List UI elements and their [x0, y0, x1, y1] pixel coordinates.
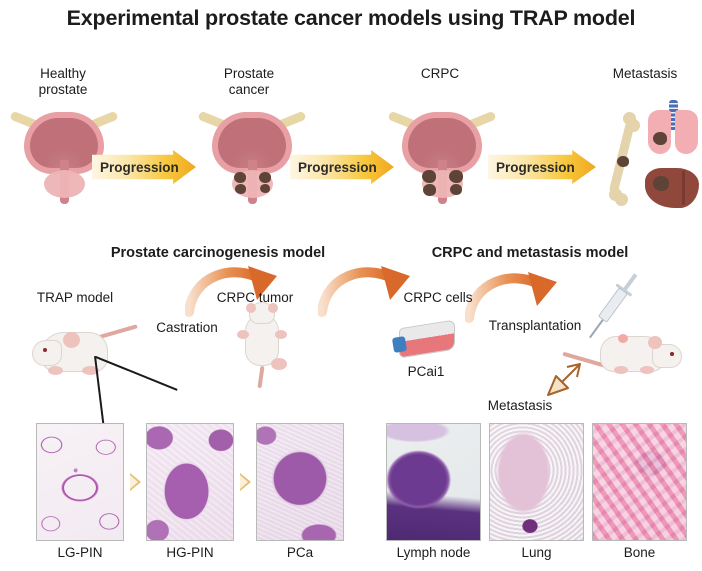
- tumor-nodule: [260, 184, 270, 193]
- histology-panel-lung: [489, 423, 584, 541]
- figure-canvas: Experimental prostate cancer models usin…: [0, 0, 702, 571]
- progression-arrow-label: Progression: [290, 160, 377, 175]
- mouse-ear: [63, 332, 80, 348]
- liver-icon: [645, 168, 699, 208]
- castration-label: Castration: [132, 320, 242, 336]
- injection-site: [618, 334, 628, 343]
- histology-caption-bone: Bone: [592, 545, 687, 560]
- tumor-nodule: [422, 170, 436, 183]
- histology-caption-pca: PCa: [256, 545, 344, 560]
- mouse-head: [32, 340, 62, 366]
- crpc-cells-label: CRPC cells: [388, 290, 488, 306]
- flask-body: [399, 320, 455, 359]
- stage-label-prostate-cancer: Prostate cancer: [194, 66, 304, 98]
- mouse-foot: [640, 366, 654, 374]
- stage-label-healthy-prostate: Healthy prostate: [8, 66, 118, 98]
- metastasis-arrow-icon: [543, 360, 585, 400]
- mouse-eye: [670, 352, 674, 356]
- pcai1-label: PCai1: [386, 364, 466, 380]
- organ-crpc: [396, 104, 488, 208]
- stage-label-crpc: CRPC: [385, 66, 495, 82]
- left-model-heading: Prostate carcinogenesis model: [78, 245, 358, 262]
- trap-model-label: TRAP model: [20, 290, 130, 306]
- mouse-foot: [48, 366, 63, 375]
- stage-label-line1: Metastasis: [590, 66, 700, 82]
- stage-label-line1: Healthy: [8, 66, 118, 82]
- mouse-foot: [237, 330, 249, 339]
- histology-panel-hg-pin: [146, 423, 234, 541]
- tumor-nodule: [259, 172, 271, 183]
- mouse-transplantation: [600, 330, 700, 384]
- progression-arrow-label: Progression: [488, 160, 575, 175]
- metastasis-outcome-label: Metastasis: [455, 398, 585, 414]
- histology-caption-lung: Lung: [489, 545, 584, 560]
- histology-panel-lymph-node: [386, 423, 481, 541]
- histology-panel-bone: [592, 423, 687, 541]
- histology-progress-arrow: [240, 473, 251, 491]
- metastatic-nodule: [653, 132, 667, 145]
- syringe-barrel: [598, 287, 628, 323]
- stage-label-line2: prostate: [8, 82, 118, 98]
- histology-panel-pca: [256, 423, 344, 541]
- figure-title: Experimental prostate cancer models usin…: [0, 6, 702, 31]
- flask-cap: [392, 336, 407, 353]
- mouse-ear: [268, 303, 278, 313]
- lung-lobe-right: [675, 110, 698, 154]
- stage-label-metastasis: Metastasis: [590, 66, 700, 82]
- progression-arrow-1: Progression: [92, 150, 196, 184]
- lung-icon: [648, 100, 698, 160]
- histology-caption-lg-pin: LG-PIN: [36, 545, 124, 560]
- histology-progress-arrow: [130, 473, 141, 491]
- bone-epiphysis-bottom: [615, 193, 628, 206]
- histology-panel-lg-pin: [36, 423, 124, 541]
- tumor-nodule: [450, 184, 462, 195]
- mouse-crpc-tumor: [235, 300, 295, 385]
- organ-prostate-cancer: [206, 104, 298, 208]
- syringe-plunger: [622, 273, 637, 292]
- bone-icon: [605, 108, 641, 202]
- bone-epiphysis-top: [627, 119, 640, 132]
- mouse-foot: [275, 330, 287, 339]
- metastatic-nodule: [653, 176, 669, 191]
- metastatic-nodule: [617, 156, 629, 167]
- mouse-tail: [257, 366, 264, 388]
- mouse-ear: [648, 336, 662, 349]
- tumor-nodule: [449, 170, 463, 183]
- cell-culture-flask: [393, 320, 463, 362]
- histology-caption-hg-pin: HG-PIN: [146, 545, 234, 560]
- stage-label-line2: cancer: [194, 82, 304, 98]
- progression-arrow-label: Progression: [92, 160, 179, 175]
- tumor-nodule: [423, 184, 436, 196]
- progression-arrow-3: Progression: [488, 150, 596, 184]
- progression-arrow-2: Progression: [290, 150, 394, 184]
- prostate-gland: [44, 170, 85, 198]
- mouse-eye: [43, 348, 47, 352]
- right-model-heading: CRPC and metastasis model: [405, 245, 655, 262]
- mouse-tumor-bulge: [271, 358, 287, 370]
- stage-label-line1: CRPC: [385, 66, 495, 82]
- tumor-nodule: [234, 172, 246, 183]
- mouse-foot: [614, 366, 628, 374]
- stage-label-line1: Prostate: [194, 66, 304, 82]
- transplantation-label: Transplantation: [470, 318, 600, 334]
- tumor-nodule: [235, 184, 246, 194]
- mouse-ear: [246, 303, 256, 313]
- histology-caption-lymph-node: Lymph node: [386, 545, 481, 560]
